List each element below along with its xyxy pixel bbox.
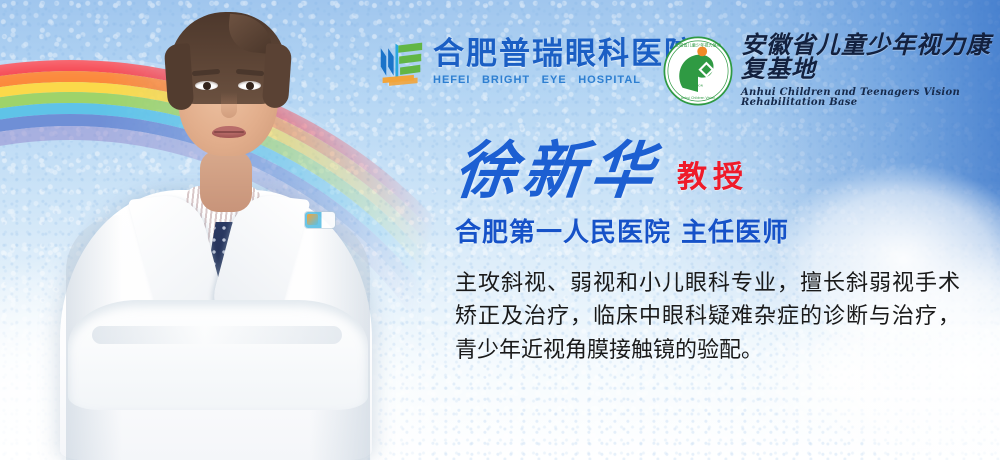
green-circular-seal-icon: 安徽省儿童少年视力基地 Anhui Children Vision VISION <box>663 36 733 106</box>
folded-arms <box>68 300 368 410</box>
coat-logo-badge-mark <box>307 214 318 225</box>
doctor-name-row: 徐新华 教授 <box>455 140 975 202</box>
hospital-logo-text: 合肥普瑞眼科医院 HEFEI BRIGHT EYE HOSPITAL <box>433 39 697 86</box>
rehabilitation-base-text: 安徽省儿童少年视力康复基地 Anhui Children and Teenage… <box>741 33 1000 108</box>
rehabilitation-base-title-en: Anhui Children and Teenagers Vision Reha… <box>741 88 1000 108</box>
doctor-title: 合肥第一人民医院 主任医师 <box>455 212 975 249</box>
doctor-info: 徐新华 教授 合肥第一人民医院 主任医师 主攻斜视、弱视和小儿眼科专业，擅长斜弱… <box>455 140 975 367</box>
hospital-name-cn: 合肥普瑞眼科医院 <box>433 39 697 70</box>
doctor-name: 徐新华 <box>452 140 663 202</box>
arm-fold-crease <box>92 326 342 344</box>
pupil-right <box>246 82 254 90</box>
hospital-name-en-1: HEFEI <box>433 75 470 86</box>
hospital-name-en-2: BRIGHT <box>482 75 530 86</box>
svg-text:安徽省儿童少年视力基地: 安徽省儿童少年视力基地 <box>675 41 722 48</box>
pupil-left <box>203 82 211 90</box>
doctor-portrait <box>52 0 382 460</box>
rehabilitation-base-logo[interactable]: 安徽省儿童少年视力基地 Anhui Children Vision VISION… <box>663 33 1000 108</box>
doctor-rank-badge: 教授 <box>677 152 749 202</box>
nose <box>221 92 237 118</box>
hospital-logo[interactable]: 合肥普瑞眼科医院 HEFEI BRIGHT EYE HOSPITAL <box>378 38 697 86</box>
hospital-name-en: HEFEI BRIGHT EYE HOSPITAL <box>433 75 641 86</box>
hair-side-right <box>262 43 292 109</box>
hair-side-left <box>164 43 195 111</box>
hospital-name-en-4: HOSPITAL <box>578 75 641 86</box>
hospital-name-en-3: EYE <box>542 75 567 86</box>
neck <box>200 150 252 212</box>
lip-line <box>214 131 244 133</box>
svg-text:VISION: VISION <box>693 83 703 87</box>
banner-root: 合肥普瑞眼科医院 HEFEI BRIGHT EYE HOSPITAL 安徽省儿童… <box>0 0 1000 460</box>
svg-text:Anhui Children Vision: Anhui Children Vision <box>681 96 715 100</box>
rehabilitation-base-title-cn: 安徽省儿童少年视力康复基地 <box>741 33 1000 81</box>
hexagon-we-monogram-icon <box>378 38 424 86</box>
doctor-description: 主攻斜视、弱视和小儿眼科专业，擅长斜弱视手术矫正及治疗，临床中眼科疑难杂症的诊断… <box>455 267 960 367</box>
